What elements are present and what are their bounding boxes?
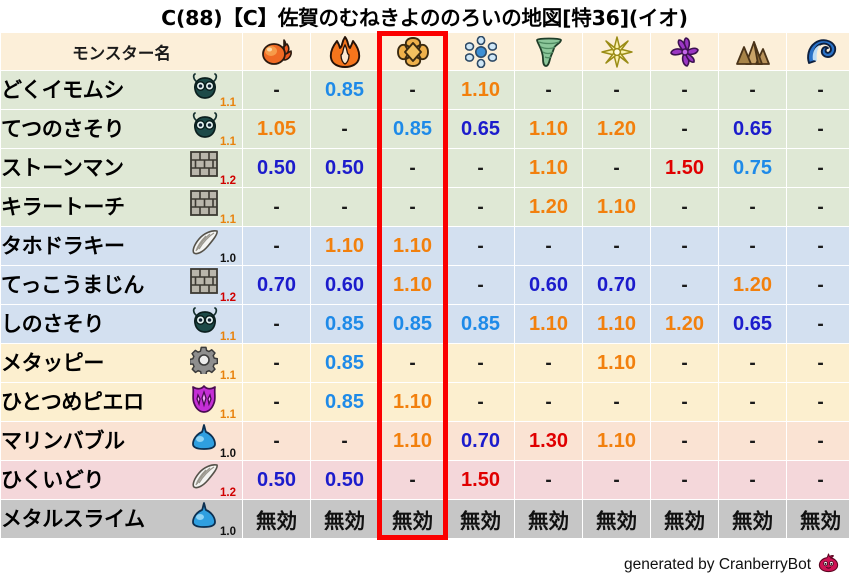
monster-multiplier: 1.0: [220, 448, 236, 460]
resist-cell-io: -: [379, 71, 446, 109]
resist-value: 1.10: [597, 313, 636, 335]
resist-value: -: [477, 197, 483, 218]
resist-value: -: [817, 119, 823, 140]
devil-icon: [190, 385, 218, 413]
resist-value: -: [681, 80, 687, 101]
resist-value: -: [681, 353, 687, 374]
resist-cell-jibaria: -: [719, 188, 786, 226]
monster-name-label: てつのさそり: [1, 110, 124, 148]
resist-value: 1.50: [461, 469, 500, 491]
resist-cell-gira: -: [311, 188, 378, 226]
resist-cell-dein: 1.10: [583, 305, 650, 343]
page-title: C(88)【C】佐賀のむねきよののろいの地図[特36](イオ): [0, 0, 849, 32]
header-row: モンスター名: [1, 33, 849, 70]
resist-value: -: [817, 470, 823, 491]
resist-value: 0.85: [325, 391, 364, 413]
resist-value: 1.20: [665, 313, 704, 335]
resist-value: -: [273, 236, 279, 257]
monster-family-badge: 1.1: [190, 190, 236, 224]
resist-cell-hyado: -: [447, 188, 514, 226]
monster-family-badge: 1.1: [190, 346, 236, 380]
monster-name-cell: マリンバブル 1.0: [1, 422, 242, 460]
resist-cell-zaki: -: [787, 188, 849, 226]
monster-name-cell: メタッピー 1.1: [1, 344, 242, 382]
resist-value: 0.85: [325, 352, 364, 374]
monster-multiplier: 1.0: [220, 526, 236, 538]
resist-cell-dein: -: [583, 383, 650, 421]
table-body: どくイモムシ 1.1-0.85-1.10-----てつのさそり 1.11.05-…: [1, 71, 849, 538]
resist-value: -: [613, 236, 619, 257]
resist-cell-jibaria: 0.75: [719, 149, 786, 187]
resist-value: 無効: [392, 509, 433, 533]
monster-family-badge: 1.2: [190, 151, 236, 185]
resist-value: 0.65: [733, 118, 772, 140]
resist-cell-gira: 0.50: [311, 461, 378, 499]
resist-value: 1.10: [325, 235, 364, 257]
monster-name-label: しのさそり: [1, 305, 104, 343]
monster-family-badge: 1.1: [190, 112, 236, 146]
resist-cell-zaki: -: [787, 227, 849, 265]
resist-cell-hyado: 1.10: [447, 71, 514, 109]
resist-value: 0.65: [733, 313, 772, 335]
resist-value: 無効: [528, 509, 569, 533]
resist-cell-dein: 0.70: [583, 266, 650, 304]
flame-icon: [328, 36, 362, 68]
monster-name-cell: てつのさそり 1.1: [1, 110, 242, 148]
resist-cell-io: 0.85: [379, 305, 446, 343]
resist-cell-jibaria: -: [719, 422, 786, 460]
resist-cell-dorma: 1.50: [651, 149, 718, 187]
monster-multiplier: 1.1: [220, 97, 236, 109]
monster-name-cell: しのさそり 1.1: [1, 305, 242, 343]
resist-value: 1.10: [529, 313, 568, 335]
resist-cell-io: 1.10: [379, 227, 446, 265]
resist-value: -: [749, 197, 755, 218]
resist-value: -: [341, 197, 347, 218]
resist-value: -: [613, 80, 619, 101]
resist-value: 0.50: [257, 157, 296, 179]
resist-cell-dorma: -: [651, 227, 718, 265]
resist-value: -: [341, 431, 347, 452]
monster-name-cell: メタルスライム 1.0: [1, 500, 242, 538]
resist-cell-jibaria: 無効: [719, 500, 786, 538]
table-row: キラートーチ 1.1----1.201.10---: [1, 188, 849, 226]
resist-value: -: [273, 392, 279, 413]
resist-value: -: [545, 353, 551, 374]
resist-value: -: [817, 236, 823, 257]
star-icon: [601, 36, 633, 68]
resist-cell-mera: 1.05: [243, 110, 310, 148]
table-row: ひとつめピエロ 1.1-0.851.10------: [1, 383, 849, 421]
resist-value: -: [749, 80, 755, 101]
resist-value: 1.10: [393, 274, 432, 296]
resist-value: -: [545, 236, 551, 257]
resist-cell-mera: 無効: [243, 500, 310, 538]
resist-value: -: [545, 392, 551, 413]
resist-value: 無効: [256, 509, 297, 533]
resist-cell-dorma: -: [651, 383, 718, 421]
brick-icon: [190, 190, 218, 216]
fireball-icon: [260, 37, 294, 67]
monster-name-label: キラートーチ: [1, 188, 125, 226]
monster-name-label: ひくいどり: [1, 461, 104, 499]
monster-name-label: メタルスライム: [1, 500, 145, 538]
resist-cell-bagi: 1.30: [515, 422, 582, 460]
wing-icon: [190, 229, 220, 255]
column-header-zaki: [787, 33, 849, 70]
table-row: しのさそり 1.1-0.850.850.851.101.101.200.65-: [1, 305, 849, 343]
resist-value: -: [273, 353, 279, 374]
resist-cell-bagi: -: [515, 461, 582, 499]
resist-cell-mera: 0.70: [243, 266, 310, 304]
resist-cell-dorma: -: [651, 461, 718, 499]
monster-name-cell: ひとつめピエロ 1.1: [1, 383, 242, 421]
resist-value: 0.85: [461, 313, 500, 335]
snowflake-icon: [465, 36, 497, 68]
resist-cell-io: -: [379, 461, 446, 499]
resist-cell-gira: 0.85: [311, 383, 378, 421]
resist-value: 0.70: [257, 274, 296, 296]
monster-multiplier: 1.2: [220, 175, 236, 187]
resist-cell-mera: -: [243, 305, 310, 343]
resist-cell-bagi: 1.10: [515, 149, 582, 187]
resist-cell-gira: 0.50: [311, 149, 378, 187]
monster-family-badge: 1.1: [190, 385, 236, 419]
resist-value: 1.10: [393, 235, 432, 257]
monster-name-cell: てっこうまじん 1.2: [1, 266, 242, 304]
pinwheel-icon: [669, 36, 701, 68]
slime-icon: [190, 424, 218, 450]
resist-cell-dein: -: [583, 71, 650, 109]
resist-value: 1.05: [257, 118, 296, 140]
resist-value: 1.10: [597, 430, 636, 452]
resist-cell-mera: -: [243, 188, 310, 226]
column-header-io: [379, 33, 446, 70]
resist-value: 0.85: [325, 313, 364, 335]
resist-value: 0.50: [325, 157, 364, 179]
resist-value: 1.20: [529, 196, 568, 218]
resist-cell-dorma: -: [651, 422, 718, 460]
resist-value: -: [409, 80, 415, 101]
resist-cell-gira: -: [311, 110, 378, 148]
resist-value: -: [681, 431, 687, 452]
resist-cell-zaki: -: [787, 461, 849, 499]
resist-cell-dorma: 1.20: [651, 305, 718, 343]
monster-multiplier: 1.1: [220, 136, 236, 148]
resist-cell-hyado: -: [447, 149, 514, 187]
resist-value: -: [409, 470, 415, 491]
monster-family-badge: 1.0: [190, 502, 236, 536]
resist-value: 0.85: [325, 79, 364, 101]
resist-cell-io: 無効: [379, 500, 446, 538]
resist-cell-io: 0.85: [379, 110, 446, 148]
brick-icon: [190, 268, 218, 294]
column-header-dorma: [651, 33, 718, 70]
resist-cell-zaki: -: [787, 344, 849, 382]
resist-cell-bagi: 1.10: [515, 110, 582, 148]
monster-name-label: タホドラキー: [1, 227, 125, 265]
resist-value: -: [273, 80, 279, 101]
resist-value: 0.60: [325, 274, 364, 296]
resist-value: -: [545, 470, 551, 491]
resist-cell-zaki: -: [787, 422, 849, 460]
monster-name-cell: どくイモムシ 1.1: [1, 71, 242, 109]
resist-cell-hyado: -: [447, 383, 514, 421]
resist-value: 1.30: [529, 430, 568, 452]
brick-icon: [190, 151, 218, 177]
resist-cell-jibaria: -: [719, 344, 786, 382]
resist-value: -: [817, 392, 823, 413]
resist-value: -: [273, 197, 279, 218]
resist-value: -: [681, 197, 687, 218]
resist-cell-jibaria: 1.20: [719, 266, 786, 304]
resist-cell-zaki: -: [787, 266, 849, 304]
column-header-gira: [311, 33, 378, 70]
resist-cell-hyado: -: [447, 227, 514, 265]
gear-icon: [190, 346, 218, 374]
table-row: メタッピー 1.1-0.85---1.10---: [1, 344, 849, 382]
resist-value: -: [681, 119, 687, 140]
resist-cell-jibaria: -: [719, 461, 786, 499]
monster-name-cell: キラートーチ 1.1: [1, 188, 242, 226]
resist-cell-dein: 1.20: [583, 110, 650, 148]
resist-cell-bagi: 1.20: [515, 188, 582, 226]
resist-value: -: [681, 392, 687, 413]
resist-value: 1.10: [393, 430, 432, 452]
resist-value: 0.50: [325, 469, 364, 491]
resist-value: -: [477, 353, 483, 374]
resist-value: 0.60: [529, 274, 568, 296]
resist-cell-mera: -: [243, 422, 310, 460]
table-header: モンスター名: [1, 33, 849, 70]
resist-value: 0.85: [393, 313, 432, 335]
resist-cell-bagi: -: [515, 344, 582, 382]
resist-value: -: [477, 392, 483, 413]
resist-value: -: [409, 353, 415, 374]
resist-cell-zaki: -: [787, 110, 849, 148]
resist-value: -: [749, 353, 755, 374]
resist-cell-mera: 0.50: [243, 149, 310, 187]
resist-cell-bagi: -: [515, 71, 582, 109]
resist-cell-io: -: [379, 344, 446, 382]
column-header-dein: [583, 33, 650, 70]
tornado-icon: [534, 36, 564, 68]
resist-value: 1.20: [597, 118, 636, 140]
resist-cell-dorma: -: [651, 110, 718, 148]
monster-name-label: マリンバブル: [1, 422, 125, 460]
monster-multiplier: 1.1: [220, 331, 236, 343]
resist-cell-bagi: -: [515, 227, 582, 265]
monster-multiplier: 1.1: [220, 370, 236, 382]
resist-cell-dorma: 無効: [651, 500, 718, 538]
resist-cell-jibaria: 0.65: [719, 305, 786, 343]
monster-multiplier: 1.2: [220, 487, 236, 499]
resist-cell-zaki: -: [787, 71, 849, 109]
resist-value: 0.70: [461, 430, 500, 452]
resist-value: -: [477, 158, 483, 179]
resist-value: 無効: [800, 509, 841, 533]
explosion-icon: [396, 36, 430, 68]
resist-cell-hyado: 0.85: [447, 305, 514, 343]
table-row: どくイモムシ 1.1-0.85-1.10-----: [1, 71, 849, 109]
resist-cell-dorma: -: [651, 344, 718, 382]
resist-value: -: [817, 197, 823, 218]
table-row: てつのさそり 1.11.05-0.850.651.101.20-0.65-: [1, 110, 849, 148]
resist-value: -: [409, 158, 415, 179]
bug-icon: [190, 112, 220, 138]
bug-icon: [190, 73, 220, 99]
resist-cell-dein: -: [583, 227, 650, 265]
monster-name-label: どくイモムシ: [1, 71, 124, 109]
resist-value: -: [817, 158, 823, 179]
resist-cell-gira: -: [311, 422, 378, 460]
resist-value: 1.10: [461, 79, 500, 101]
resist-value: 1.10: [393, 391, 432, 413]
resist-value: 1.10: [597, 196, 636, 218]
resist-value: -: [681, 275, 687, 296]
resist-cell-hyado: 無効: [447, 500, 514, 538]
resist-cell-mera: 0.50: [243, 461, 310, 499]
resist-value: 0.70: [597, 274, 636, 296]
column-header-mera: [243, 33, 310, 70]
resist-cell-mera: -: [243, 383, 310, 421]
slime-icon: [190, 502, 218, 528]
resist-cell-bagi: 無効: [515, 500, 582, 538]
resist-cell-dein: -: [583, 149, 650, 187]
resist-cell-dein: -: [583, 461, 650, 499]
table-row: メタルスライム 1.0無効無効無効無効無効無効無効無効無効: [1, 500, 849, 538]
resist-value: 0.75: [733, 157, 772, 179]
resist-cell-jibaria: -: [719, 227, 786, 265]
resist-value: 1.20: [733, 274, 772, 296]
resist-value: 0.85: [393, 118, 432, 140]
resist-cell-gira: 0.85: [311, 344, 378, 382]
resist-cell-hyado: -: [447, 344, 514, 382]
monster-family-badge: 1.0: [190, 229, 236, 263]
resist-value: 無効: [324, 509, 365, 533]
resist-value: 1.10: [529, 157, 568, 179]
resist-cell-zaki: 無効: [787, 500, 849, 538]
resist-cell-bagi: 1.10: [515, 305, 582, 343]
resist-cell-io: 1.10: [379, 383, 446, 421]
resist-cell-dorma: -: [651, 266, 718, 304]
resist-cell-mera: -: [243, 344, 310, 382]
resist-cell-dorma: -: [651, 188, 718, 226]
resist-value: -: [817, 314, 823, 335]
resist-value: -: [749, 236, 755, 257]
resist-cell-gira: 0.85: [311, 305, 378, 343]
resist-cell-dein: 無効: [583, 500, 650, 538]
resist-cell-hyado: 0.65: [447, 110, 514, 148]
resist-cell-io: 1.10: [379, 266, 446, 304]
resist-value: -: [477, 236, 483, 257]
monster-family-badge: 1.1: [190, 307, 236, 341]
resist-cell-hyado: 1.50: [447, 461, 514, 499]
monster-name-cell: ひくいどり 1.2: [1, 461, 242, 499]
mountain-icon: [736, 38, 770, 66]
resist-cell-dorma: -: [651, 71, 718, 109]
resist-cell-gira: 無効: [311, 500, 378, 538]
resist-value: 無効: [664, 509, 705, 533]
monster-name-label: てっこうまじん: [1, 266, 144, 304]
column-header-bagi: [515, 33, 582, 70]
resist-cell-dein: 1.10: [583, 422, 650, 460]
resistance-table: モンスター名: [0, 32, 849, 539]
monster-family-badge: 1.2: [190, 268, 236, 302]
resist-value: -: [749, 470, 755, 491]
resist-value: -: [681, 470, 687, 491]
resist-cell-zaki: -: [787, 383, 849, 421]
monster-family-badge: 1.2: [190, 463, 236, 497]
resist-value: -: [817, 80, 823, 101]
resist-value: -: [273, 314, 279, 335]
wing-icon: [190, 463, 220, 489]
resist-value: 0.50: [257, 469, 296, 491]
resist-value: -: [613, 158, 619, 179]
resist-value: -: [545, 80, 551, 101]
resist-value: 無効: [596, 509, 637, 533]
resist-cell-gira: 0.85: [311, 71, 378, 109]
resist-value: -: [817, 431, 823, 452]
footer-text: generated by CranberryBot: [624, 556, 811, 574]
resist-value: -: [613, 392, 619, 413]
column-header-hyado: [447, 33, 514, 70]
monster-name-label: ストーンマン: [1, 149, 124, 187]
resist-cell-gira: 0.60: [311, 266, 378, 304]
footer: generated by CranberryBot: [624, 552, 839, 577]
resist-cell-io: -: [379, 149, 446, 187]
resist-cell-jibaria: -: [719, 71, 786, 109]
resist-cell-bagi: -: [515, 383, 582, 421]
monster-name-label: ひとつめピエロ: [1, 383, 144, 421]
monster-family-badge: 1.1: [190, 73, 236, 107]
resist-value: 1.50: [665, 157, 704, 179]
resist-cell-hyado: 0.70: [447, 422, 514, 460]
resist-value: -: [341, 119, 347, 140]
resist-cell-jibaria: 0.65: [719, 110, 786, 148]
resist-cell-hyado: -: [447, 266, 514, 304]
monster-multiplier: 1.1: [220, 409, 236, 421]
resist-value: -: [409, 197, 415, 218]
bug-icon: [190, 307, 220, 333]
resist-cell-io: 1.10: [379, 422, 446, 460]
table-row: ストーンマン 1.20.500.50--1.10-1.500.75-: [1, 149, 849, 187]
monster-name-cell: ストーンマン 1.2: [1, 149, 242, 187]
resist-value: -: [749, 392, 755, 413]
resist-cell-zaki: -: [787, 149, 849, 187]
monster-name-cell: タホドラキー 1.0: [1, 227, 242, 265]
table-row: ひくいどり 1.20.500.50-1.50-----: [1, 461, 849, 499]
resist-value: -: [681, 236, 687, 257]
resist-value: -: [273, 431, 279, 452]
wave-icon: [805, 37, 837, 67]
resist-value: -: [817, 353, 823, 374]
resist-cell-jibaria: -: [719, 383, 786, 421]
monster-multiplier: 1.2: [220, 292, 236, 304]
resist-cell-gira: 1.10: [311, 227, 378, 265]
resist-cell-io: -: [379, 188, 446, 226]
resistance-table-wrapper: モンスター名: [0, 32, 849, 539]
resist-value: 無効: [732, 509, 773, 533]
monster-multiplier: 1.0: [220, 253, 236, 265]
resist-cell-mera: -: [243, 227, 310, 265]
resist-value: 無効: [460, 509, 501, 533]
resist-cell-mera: -: [243, 71, 310, 109]
column-header-monster-name: モンスター名: [1, 33, 242, 70]
resist-cell-zaki: -: [787, 305, 849, 343]
column-header-jibaria: [719, 33, 786, 70]
resist-value: 0.65: [461, 118, 500, 140]
